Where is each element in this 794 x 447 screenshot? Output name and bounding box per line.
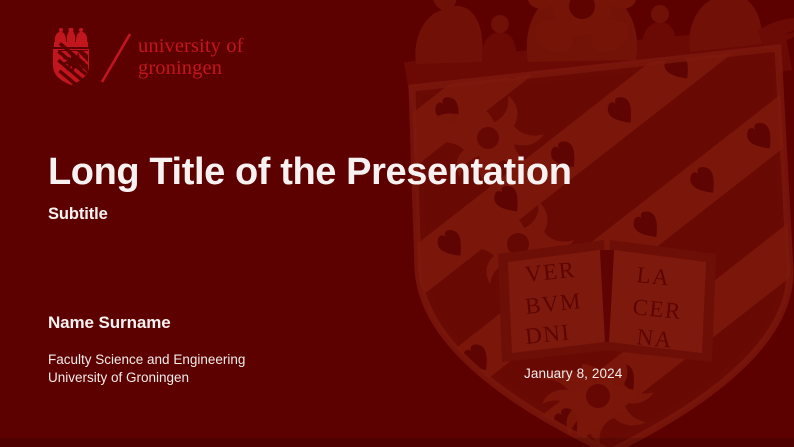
title-block: Long Title of the Presentation Subtitle [48,152,572,224]
page-title: Long Title of the Presentation [48,152,572,193]
author-name: Name Surname [48,313,245,333]
author-affiliation: Faculty Science and Engineering Universi… [48,351,245,387]
groningen-crest-icon [48,28,94,86]
author-block: Name Surname Faculty Science and Enginee… [48,313,245,387]
presentation-title-slide: VER BVM DNI LA CER NA [0,0,794,447]
affiliation-faculty: Faculty Science and Engineering [48,351,245,369]
affiliation-institution: University of Groningen [48,369,245,387]
presentation-date: January 8, 2024 [524,366,622,381]
svg-text:BVM: BVM [524,288,583,319]
svg-text:NA: NA [635,324,674,353]
svg-text:VER: VER [524,257,577,287]
diagonal-slash-icon [94,28,136,86]
page-subtitle: Subtitle [48,205,572,224]
svg-text:CER: CER [631,294,683,324]
university-wordmark: university of groningen [138,35,244,79]
svg-text:LA: LA [635,262,671,290]
university-logo-lockup: university of groningen [48,27,244,87]
svg-text:DNI: DNI [524,319,572,349]
bottom-accent-strip [0,438,794,447]
